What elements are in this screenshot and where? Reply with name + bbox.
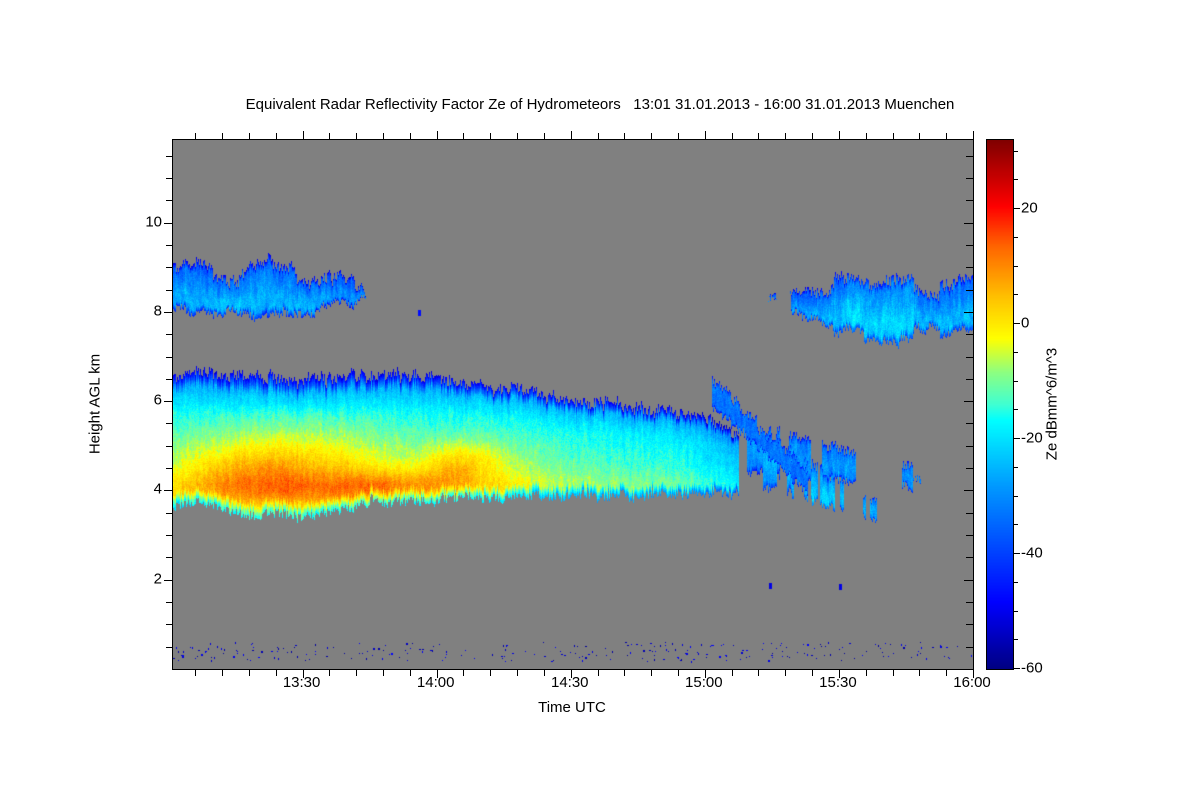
x-tick-minor-top	[249, 133, 250, 140]
y-tick-label: 8	[120, 302, 162, 319]
x-tick-minor-top	[410, 133, 411, 140]
y-tick-minor	[166, 513, 173, 514]
y-tick-major-right	[964, 580, 973, 581]
colorbar-tick-label: -40	[1021, 545, 1043, 562]
x-tick-label: 14:00	[417, 674, 455, 691]
x-tick-minor	[732, 669, 733, 676]
figure-title: Equivalent Radar Reflectivity Factor Ze …	[0, 96, 1200, 113]
x-tick-major-top	[839, 131, 840, 140]
y-tick-major	[164, 312, 173, 313]
colorbar-tick-major	[1013, 438, 1020, 439]
x-tick-minor	[919, 669, 920, 676]
y-tick-minor-right	[966, 446, 973, 447]
y-tick-label: 6	[120, 392, 162, 409]
x-tick-minor	[812, 669, 813, 676]
y-tick-minor-right	[966, 334, 973, 335]
x-tick-minor	[785, 669, 786, 676]
y-tick-minor	[166, 557, 173, 558]
colorbar-tick-minor	[1013, 524, 1018, 525]
colorbar-tick-major	[1013, 323, 1020, 324]
colorbar-tick-label: 0	[1021, 315, 1029, 332]
x-tick-label: 15:30	[819, 674, 857, 691]
x-tick-minor-top	[222, 133, 223, 140]
y-tick-minor	[166, 200, 173, 201]
y-tick-minor-right	[966, 379, 973, 380]
colorbar-tick-minor	[1013, 496, 1018, 497]
x-tick-minor	[276, 669, 277, 676]
y-tick-minor	[166, 245, 173, 246]
colorbar-tick-major	[1013, 553, 1020, 554]
y-tick-minor-right	[966, 267, 973, 268]
x-tick-minor-top	[276, 133, 277, 140]
x-tick-major-top	[973, 131, 974, 140]
y-tick-minor-right	[966, 200, 973, 201]
y-tick-major-right	[964, 312, 973, 313]
colorbar-tick-minor	[1013, 381, 1018, 382]
x-tick-minor-top	[785, 133, 786, 140]
colorbar-gradient	[986, 139, 1014, 670]
y-axis-title: Height AGL km	[87, 354, 104, 454]
x-tick-minor	[758, 669, 759, 676]
x-tick-minor	[651, 669, 652, 676]
x-tick-minor-top	[598, 133, 599, 140]
x-tick-minor-top	[919, 133, 920, 140]
y-tick-label: 10	[120, 213, 162, 230]
x-tick-minor-top	[893, 133, 894, 140]
x-tick-minor	[624, 669, 625, 676]
y-tick-minor	[166, 334, 173, 335]
x-tick-minor-top	[463, 133, 464, 140]
y-tick-minor	[166, 357, 173, 358]
y-tick-minor	[166, 178, 173, 179]
x-tick-minor-top	[758, 133, 759, 140]
x-tick-minor-top	[678, 133, 679, 140]
y-tick-minor-right	[966, 290, 973, 291]
y-tick-major	[164, 223, 173, 224]
x-tick-minor-top	[329, 133, 330, 140]
x-tick-minor	[866, 669, 867, 676]
y-tick-minor-right	[966, 178, 973, 179]
y-tick-minor	[166, 423, 173, 424]
y-tick-minor-right	[966, 557, 973, 558]
x-tick-label: 15:00	[685, 674, 723, 691]
colorbar-tick-minor	[1013, 467, 1018, 468]
x-axis-title: Time UTC	[538, 699, 606, 716]
radar-plot-area[interactable]	[172, 139, 974, 670]
colorbar-tick-label: -20	[1021, 430, 1043, 447]
x-tick-minor	[678, 669, 679, 676]
colorbar-tick-minor	[1013, 151, 1018, 152]
x-tick-minor	[946, 669, 947, 676]
y-tick-minor-right	[966, 357, 973, 358]
y-tick-minor	[166, 602, 173, 603]
y-tick-minor-right	[966, 156, 973, 157]
x-tick-minor	[598, 669, 599, 676]
x-tick-minor-top	[651, 133, 652, 140]
colorbar-tick-major	[1013, 668, 1020, 669]
x-tick-minor-top	[624, 133, 625, 140]
y-tick-major	[164, 401, 173, 402]
colorbar-tick-major	[1013, 208, 1020, 209]
y-tick-minor	[166, 468, 173, 469]
colorbar-tick-label: -60	[1021, 660, 1043, 677]
y-tick-major-right	[964, 223, 973, 224]
colorbar-tick-minor	[1013, 266, 1018, 267]
x-tick-minor	[222, 669, 223, 676]
colorbar-tick-minor	[1013, 582, 1018, 583]
y-tick-minor	[166, 290, 173, 291]
x-tick-minor-top	[812, 133, 813, 140]
x-tick-major-top	[571, 131, 572, 140]
y-tick-minor-right	[966, 423, 973, 424]
colorbar-title: Ze dBmm^6/m^3	[1044, 348, 1061, 460]
colorbar-tick-minor	[1013, 237, 1018, 238]
colorbar-tick-minor	[1013, 179, 1018, 180]
colorbar-tick-minor	[1013, 294, 1018, 295]
colorbar-tick-label: 20	[1021, 200, 1038, 217]
y-tick-minor	[166, 446, 173, 447]
x-tick-major-top	[705, 131, 706, 140]
figure-root: Equivalent Radar Reflectivity Factor Ze …	[0, 0, 1200, 800]
y-tick-minor	[166, 379, 173, 380]
x-tick-minor	[195, 669, 196, 676]
y-tick-label: 2	[120, 570, 162, 587]
x-tick-minor	[356, 669, 357, 676]
x-tick-major-top	[303, 131, 304, 140]
x-tick-minor-top	[490, 133, 491, 140]
y-tick-minor	[166, 535, 173, 536]
y-tick-major	[164, 490, 173, 491]
y-tick-minor-right	[966, 245, 973, 246]
x-tick-minor	[490, 669, 491, 676]
colorbar-tick-minor	[1013, 409, 1018, 410]
x-tick-minor-top	[866, 133, 867, 140]
y-tick-label: 4	[120, 481, 162, 498]
y-tick-minor-right	[966, 535, 973, 536]
y-tick-major-right	[964, 401, 973, 402]
y-tick-minor-right	[966, 647, 973, 648]
x-tick-label: 16:00	[953, 674, 991, 691]
x-tick-minor-top	[544, 133, 545, 140]
y-tick-minor	[166, 647, 173, 648]
y-tick-major	[164, 580, 173, 581]
x-tick-minor	[463, 669, 464, 676]
colorbar-tick-minor	[1013, 352, 1018, 353]
x-tick-minor	[544, 669, 545, 676]
x-tick-major-top	[437, 131, 438, 140]
colorbar-tick-minor	[1013, 639, 1018, 640]
x-tick-minor	[517, 669, 518, 676]
x-tick-minor	[893, 669, 894, 676]
radar-heatmap-canvas	[173, 140, 973, 669]
x-tick-minor	[383, 669, 384, 676]
y-tick-minor-right	[966, 468, 973, 469]
x-tick-minor-top	[195, 133, 196, 140]
colorbar[interactable]	[986, 139, 1012, 668]
x-tick-label: 14:30	[551, 674, 589, 691]
x-tick-label: 13:30	[283, 674, 321, 691]
x-tick-minor	[329, 669, 330, 676]
y-tick-minor-right	[966, 624, 973, 625]
y-tick-minor	[166, 156, 173, 157]
y-tick-major-right	[964, 490, 973, 491]
y-tick-minor	[166, 267, 173, 268]
x-tick-minor-top	[356, 133, 357, 140]
x-tick-minor-top	[946, 133, 947, 140]
y-tick-minor-right	[966, 513, 973, 514]
x-tick-minor-top	[383, 133, 384, 140]
y-tick-minor	[166, 624, 173, 625]
x-tick-minor	[249, 669, 250, 676]
x-tick-minor-top	[732, 133, 733, 140]
x-tick-minor-top	[517, 133, 518, 140]
colorbar-tick-minor	[1013, 611, 1018, 612]
x-tick-minor	[410, 669, 411, 676]
y-tick-minor-right	[966, 602, 973, 603]
